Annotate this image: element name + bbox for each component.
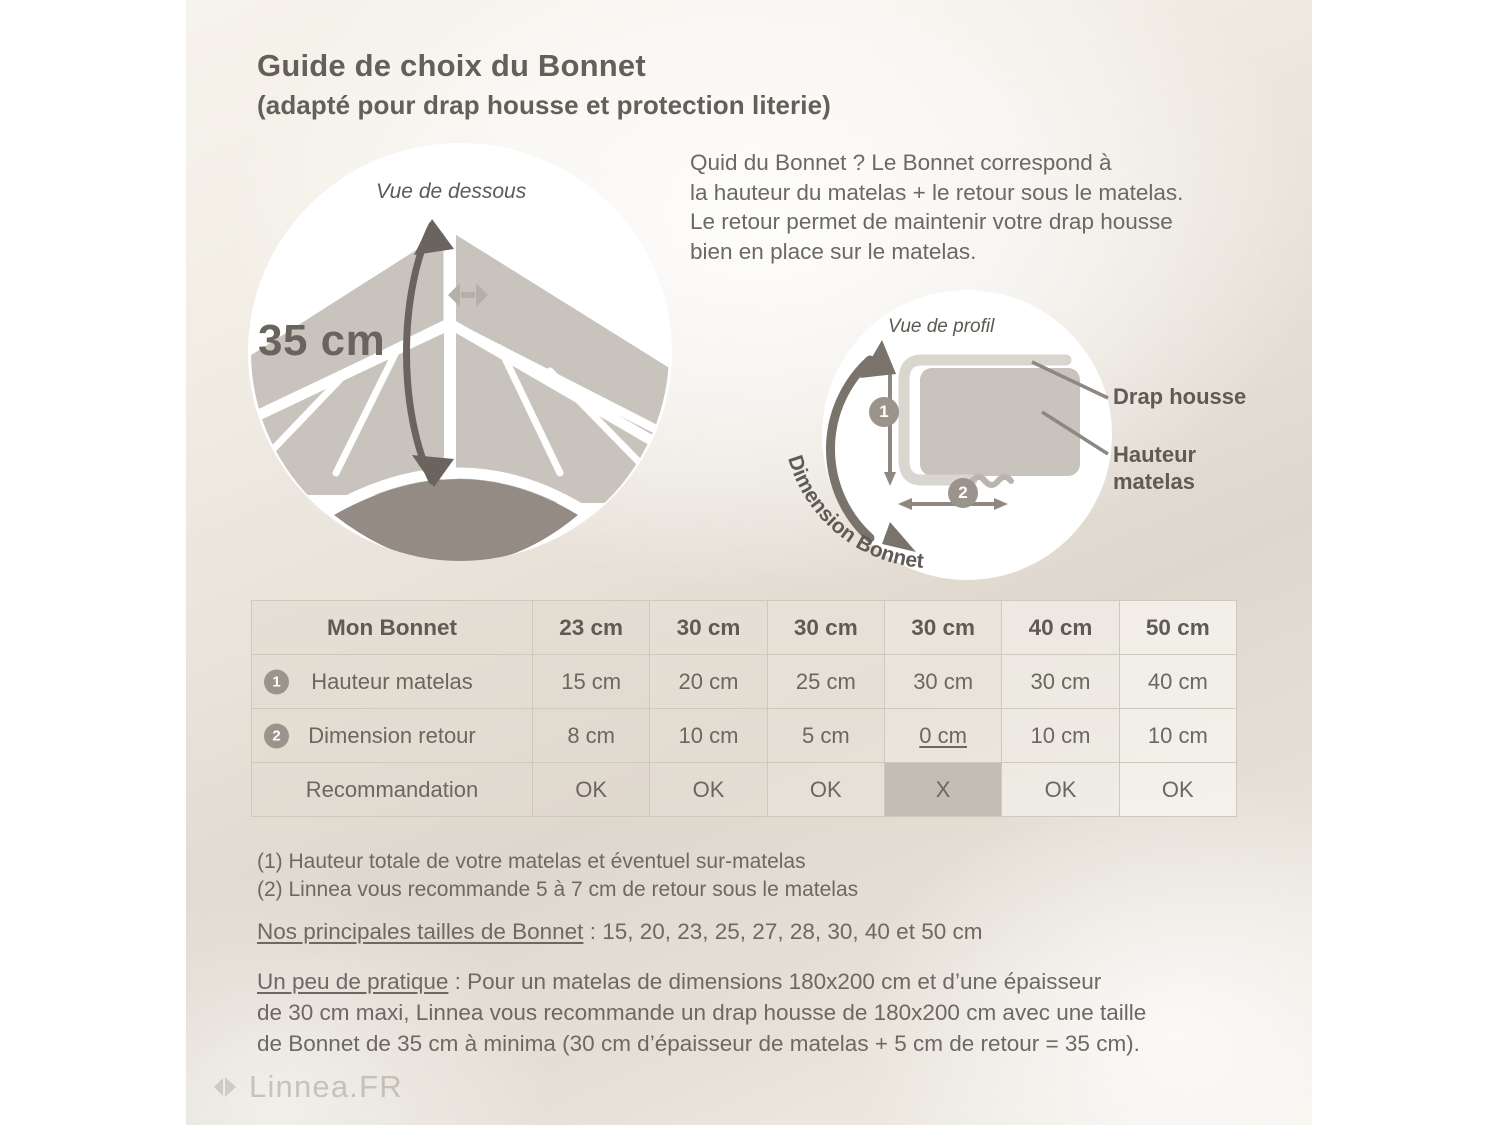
principal-sizes-rest: : 15, 20, 23, 25, 27, 28, 30, 40 et 50 c… (583, 919, 982, 944)
page-title: Guide de choix du Bonnet (257, 48, 646, 84)
practice-lead: Un peu de pratique (257, 969, 448, 994)
principal-sizes-line: Nos principales tailles de Bonnet : 15, … (257, 918, 982, 946)
dimension-bonnet-arc: Dimension Bonnet (778, 300, 1048, 570)
label-drap-housse: Drap housse (1113, 383, 1246, 410)
label-hauteur-line-1: Hauteur (1113, 441, 1196, 468)
table-cell: 40 cm (1119, 655, 1236, 709)
table-row: 1 Hauteur matelas 15 cm 20 cm 25 cm 30 c… (252, 655, 1237, 709)
table-cell: 10 cm (650, 709, 767, 763)
bonnet-measure-label: 35 cm (258, 316, 385, 366)
practice-line-1: Un peu de pratique : Pour un matelas de … (257, 966, 1146, 997)
table-cell: 0 cm (884, 709, 1001, 763)
table-row-label: Recommandation (252, 763, 533, 817)
poster-canvas: Guide de choix du Bonnet (adapté pour dr… (0, 0, 1500, 1125)
table-cell: 10 cm (1119, 709, 1236, 763)
table-cell: 20 cm (650, 655, 767, 709)
footnotes: (1) Hauteur totale de votre matelas et é… (257, 848, 858, 904)
row-badge-1: 1 (264, 669, 289, 694)
table-cell: OK (767, 763, 884, 817)
table-cell: OK (1119, 763, 1236, 817)
table-row: Recommandation OK OK OK X OK OK (252, 763, 1237, 817)
practice-line-3: de Bonnet de 35 cm à minima (30 cm d’épa… (257, 1028, 1146, 1059)
label-hauteur-matelas: Hauteur matelas (1113, 441, 1196, 495)
table-row-label: 2 Dimension retour (252, 709, 533, 763)
table-cell: 40 cm (1002, 601, 1119, 655)
linnea-logo-text: Linnea.FR (249, 1069, 403, 1105)
table-cell: 30 cm (1002, 655, 1119, 709)
dimension-bonnet-text: Dimension Bonnet (783, 452, 925, 570)
footnote-1: (1) Hauteur totale de votre matelas et é… (257, 848, 858, 876)
table-cell: 30 cm (884, 655, 1001, 709)
intro-line-2: la hauteur du matelas + le retour sous l… (690, 178, 1270, 208)
table-cell: 30 cm (767, 601, 884, 655)
table-row-label-text: Dimension retour (308, 723, 476, 748)
table-row-label-text: Hauteur matelas (311, 669, 472, 694)
table-cell: 30 cm (884, 601, 1001, 655)
table-cell: OK (650, 763, 767, 817)
linnea-logo[interactable]: Linnea.FR (212, 1069, 403, 1105)
table-cell: 8 cm (533, 709, 650, 763)
table-cell: 5 cm (767, 709, 884, 763)
intro-line-4: bien en place sur le matelas. (690, 237, 1270, 267)
practice-line-2: de 30 cm maxi, Linnea vous recommande un… (257, 997, 1146, 1028)
table-cell: 25 cm (767, 655, 884, 709)
practice-line-1-rest: : Pour un matelas de dimensions 180x200 … (448, 969, 1101, 994)
intro-line-1: Quid du Bonnet ? Le Bonnet correspond à (690, 148, 1270, 178)
table-row: Mon Bonnet 23 cm 30 cm 30 cm 30 cm 40 cm… (252, 601, 1237, 655)
leader-line-sheet (1032, 362, 1108, 398)
row-badge-2: 2 (264, 723, 289, 748)
table-cell: 10 cm (1002, 709, 1119, 763)
table-cell-emphasis: 0 cm (919, 723, 967, 748)
label-hauteur-line-2: matelas (1113, 468, 1196, 495)
table-cell: 23 cm (533, 601, 650, 655)
table-cell: OK (1002, 763, 1119, 817)
table-cell: 30 cm (650, 601, 767, 655)
leader-line-height (1042, 412, 1108, 454)
principal-sizes-lead: Nos principales tailles de Bonnet (257, 919, 583, 944)
practice-paragraph: Un peu de pratique : Pour un matelas de … (257, 966, 1146, 1059)
intro-line-3: Le retour permet de maintenir votre drap… (690, 207, 1270, 237)
table-row: 2 Dimension retour 8 cm 10 cm 5 cm 0 cm … (252, 709, 1237, 763)
table-row-label: 1 Hauteur matelas (252, 655, 533, 709)
table-cell-not-recommended: X (884, 763, 1001, 817)
table-cell: 15 cm (533, 655, 650, 709)
bottom-view-caption: Vue de dessous (376, 180, 526, 204)
table-row-label: Mon Bonnet (252, 601, 533, 655)
footnote-2: (2) Linnea vous recommande 5 à 7 cm de r… (257, 876, 858, 904)
page-subtitle: (adapté pour drap housse et protection l… (257, 90, 831, 121)
linnea-diamond-icon (212, 1074, 238, 1100)
intro-paragraph: Quid du Bonnet ? Le Bonnet correspond à … (690, 148, 1270, 266)
table-cell: OK (533, 763, 650, 817)
bonnet-table: Mon Bonnet 23 cm 30 cm 30 cm 30 cm 40 cm… (251, 600, 1237, 817)
table-cell: 50 cm (1119, 601, 1236, 655)
